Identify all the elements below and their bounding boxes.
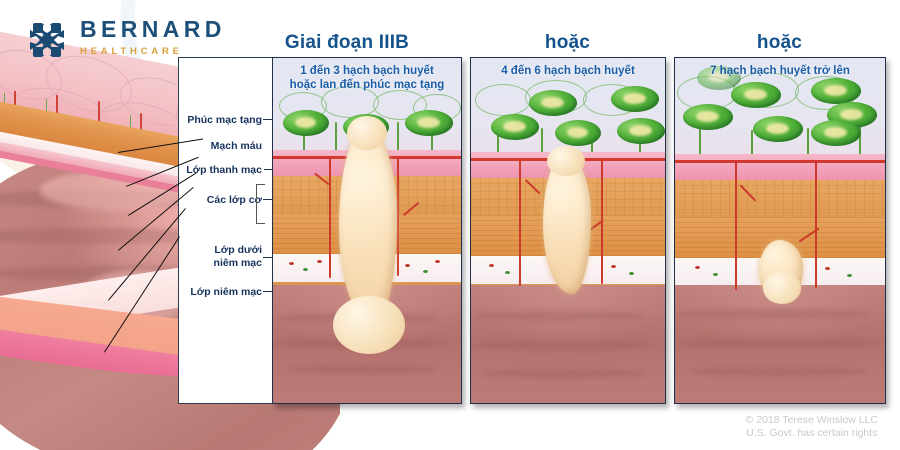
- copyright-line-1: © 2018 Terese Winslow LLC: [746, 414, 878, 427]
- or-title-1: hoặc: [470, 32, 665, 54]
- lymph-node: [283, 110, 329, 136]
- panel-2-caption: 4 đến 6 hạch bạch huyết: [471, 58, 665, 78]
- stage-title: Giai đoạn IIIB: [232, 32, 462, 54]
- label-blood-vessel: Mạch máu: [211, 140, 262, 153]
- lymph-node: [811, 120, 861, 146]
- panel-1-tumor-top: [347, 116, 387, 150]
- copyright-line-2: U.S. Govt. has certain rights: [746, 427, 878, 440]
- lymph-node: [529, 90, 577, 116]
- panel-3-caption: 7 hạch bạch huyết trở lên: [675, 58, 885, 78]
- panel-3-caption-line1: 7 hạch bạch huyết trở lên: [710, 65, 850, 77]
- panel-3-artery-band: [675, 160, 885, 163]
- tick-submucosa: [263, 257, 272, 258]
- lymph-node: [617, 118, 665, 144]
- muscle-layers-bracket: [256, 184, 265, 224]
- illustration-canvas: BERNARD HEALTHCARE Giai đoạn IIIB hoặc h…: [0, 0, 900, 450]
- label-mucosa: Lớp niêm mạc: [190, 286, 262, 299]
- lymph-node: [753, 116, 803, 142]
- label-submucosa: Lớp dưới niêm mạc: [200, 244, 262, 269]
- panel-2-stage-iiib[interactable]: 4 đến 6 hạch bạch huyết: [470, 57, 666, 404]
- panel-1-caption-line1: 1 đến 3 hạch bạch huyết: [300, 65, 434, 77]
- lymph-node: [491, 114, 539, 140]
- panel-2-lumen: [471, 285, 665, 403]
- tick-visceral-peritoneum: [263, 119, 272, 120]
- brand-name: BERNARD: [80, 18, 226, 41]
- panel-1-stage-iiib[interactable]: 1 đến 3 hạch bạch huyết hoặc lan đến phú…: [272, 57, 462, 404]
- panel-1-caption: 1 đến 3 hạch bạch huyết hoặc lan đến phú…: [273, 58, 461, 92]
- bernard-starburst-icon: [22, 16, 72, 64]
- lymph-node: [683, 104, 733, 130]
- panel-1-tumor-lumen-bulge: [333, 296, 405, 354]
- lymph-node: [555, 120, 601, 146]
- lymph-node: [611, 86, 659, 112]
- anatomy-label-card: Phúc mạc tạng Mạch máu Lớp thanh mạc Các…: [178, 57, 272, 404]
- lymph-node: [731, 82, 781, 108]
- panel-1-caption-line2: hoặc lan đến phúc mạc tạng: [290, 79, 445, 91]
- label-visceral-peritoneum: Phúc mạc tạng: [187, 114, 262, 127]
- lymph-node: [811, 78, 861, 104]
- brand-tagline: HEALTHCARE: [80, 46, 226, 57]
- label-serosa: Lớp thanh mạc: [186, 164, 262, 177]
- or-title-2: hoặc: [672, 32, 887, 54]
- panel-2-caption-line1: 4 đến 6 hạch bạch huyết: [501, 65, 635, 77]
- panel-3-serosa: [675, 154, 885, 180]
- copyright-notice: © 2018 Terese Winslow LLC U.S. Govt. has…: [746, 414, 878, 440]
- brand-wordmark: BERNARD HEALTHCARE: [80, 18, 226, 57]
- panel-3-tumor-lower: [763, 272, 801, 304]
- tick-serosa: [264, 169, 272, 170]
- label-muscle-layers: Các lớp cơ: [207, 194, 262, 207]
- tick-mucosa: [263, 291, 272, 292]
- panel-3-muscle-layer-1: [675, 180, 885, 218]
- panel-3-stage-iiib[interactable]: 7 hạch bạch huyết trở lên: [674, 57, 886, 404]
- lymph-node: [405, 110, 453, 136]
- panel-2-tumor-top: [547, 146, 585, 176]
